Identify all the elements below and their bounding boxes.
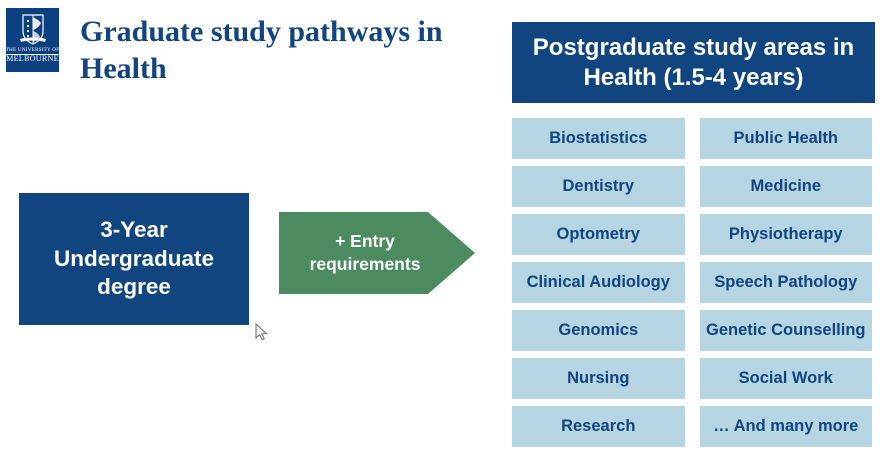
university-logo: THE UNIVERSITY OF MELBOURNE [6, 8, 59, 72]
study-area-item[interactable]: Medicine [700, 166, 873, 207]
study-area-item[interactable]: Genetic Counselling [700, 310, 873, 351]
study-area-item[interactable]: Social Work [700, 358, 873, 399]
study-area-item[interactable]: Research [512, 406, 685, 447]
mouse-pointer-icon [255, 323, 268, 341]
study-area-item[interactable]: Speech Pathology [700, 262, 873, 303]
shield-crest-icon [18, 11, 48, 47]
study-area-item[interactable]: Clinical Audiology [512, 262, 685, 303]
study-area-item[interactable]: … And many more [700, 406, 873, 447]
study-area-item[interactable]: Public Health [700, 118, 873, 159]
study-area-item[interactable]: Nursing [512, 358, 685, 399]
study-area-column-right: Public Health Medicine Physiotherapy Spe… [700, 118, 873, 447]
study-area-item[interactable]: Biostatistics [512, 118, 685, 159]
study-area-column-left: Biostatistics Dentistry Optometry Clinic… [512, 118, 685, 447]
study-area-item[interactable]: Physiotherapy [700, 214, 873, 255]
entry-requirements-arrow: + Entry requirements [279, 212, 475, 294]
postgraduate-header-banner: Postgraduate study areas in Health (1.5-… [512, 22, 875, 103]
study-area-item[interactable]: Genomics [512, 310, 685, 351]
study-area-item[interactable]: Optometry [512, 214, 685, 255]
page-title: Graduate study pathways in Health [80, 14, 480, 87]
logo-line-university: THE UNIVERSITY OF [6, 48, 60, 53]
logo-line-melbourne: MELBOURNE [6, 54, 59, 64]
postgraduate-study-areas-grid: Biostatistics Dentistry Optometry Clinic… [512, 118, 872, 447]
study-area-item[interactable]: Dentistry [512, 166, 685, 207]
undergraduate-degree-box: 3-Year Undergraduate degree [19, 193, 249, 325]
